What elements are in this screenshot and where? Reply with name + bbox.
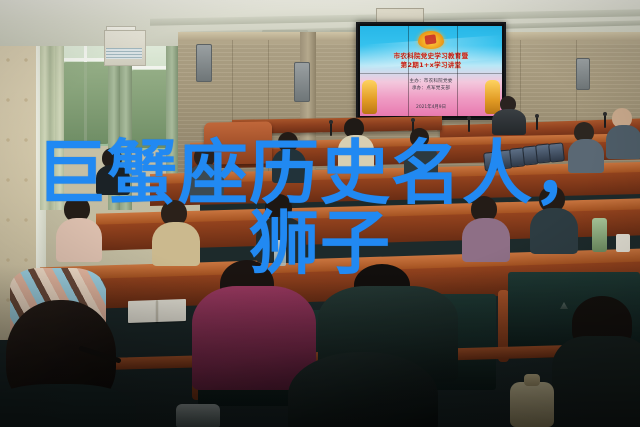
thermos-foreground <box>510 382 554 427</box>
body <box>552 336 640 427</box>
speaker-right-icon <box>294 62 310 102</box>
head <box>288 352 438 427</box>
watermark-caption: 巨蟹座历史名人， 狮子 <box>0 138 640 278</box>
screen-date: 2021年4月9日 <box>360 104 502 110</box>
screen-subtitle-line2: 承办：点军党支部 <box>412 86 450 91</box>
screen-title-line2: 第2期1+x学习讲堂 <box>401 61 462 69</box>
screen-panel-seam-1 <box>408 26 409 116</box>
thermos-lid-knob <box>524 374 540 386</box>
microphone-4 <box>468 118 470 132</box>
screen-subtitle-line1: 主办：市农科院党委 <box>409 79 452 84</box>
microphone-5 <box>536 116 538 130</box>
screen-panel-seam-2 <box>457 26 458 116</box>
lion-statue-left-icon <box>362 80 377 114</box>
speaker-left-icon <box>196 44 212 82</box>
led-display: 市农科院党史学习教育暨第2期1+x学习讲堂 主办：市农科院党委承办：点军党支部 … <box>356 22 506 120</box>
party-emblem-icon <box>418 31 444 49</box>
screen-panel-seam-h <box>360 73 502 74</box>
air-conditioner-left-vent <box>106 48 142 59</box>
screenshot-root: 市农科院党史学习教育暨第2期1+x学习讲堂 主办：市农科院党委承办：点军党支部 … <box>0 0 640 427</box>
led-display-content: 市农科院党史学习教育暨第2期1+x学习讲堂 主办：市农科院党委承办：点军党支部 … <box>360 26 502 116</box>
microphone-6 <box>604 114 606 128</box>
speaker-far-right-icon <box>576 58 590 90</box>
body <box>0 384 136 427</box>
lion-statue-right-icon <box>485 80 500 114</box>
foreground-glass-cup <box>176 404 220 427</box>
screen-subtitle: 主办：市农科院党委承办：点军党支部 <box>360 78 502 92</box>
screen-title: 市农科院党史学习教育暨第2期1+x学习讲堂 <box>360 52 502 70</box>
notebook-page-fold <box>156 300 158 322</box>
